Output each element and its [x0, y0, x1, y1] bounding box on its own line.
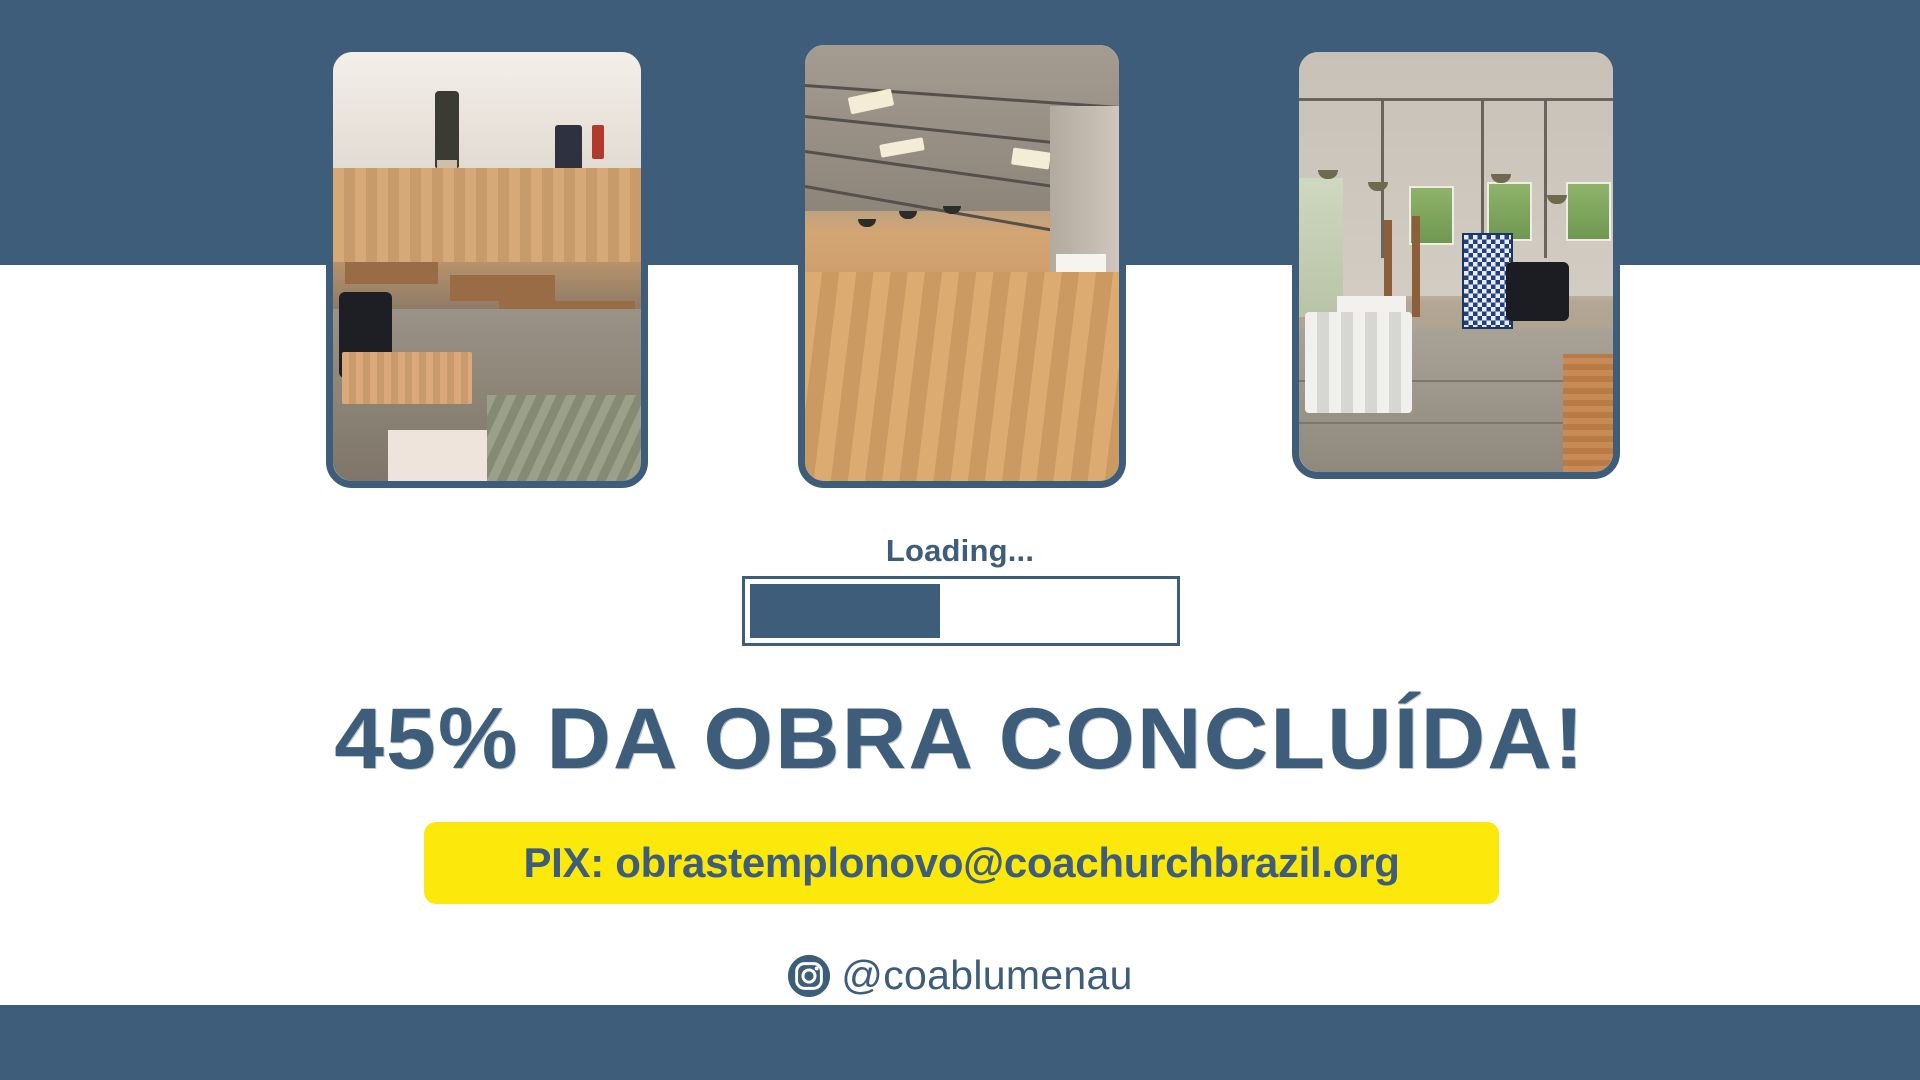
bottom-accent-band — [0, 1005, 1920, 1080]
photo-region-metal-stack — [487, 395, 641, 481]
photo-region-wood-board — [1563, 354, 1613, 472]
photo-region-wall — [1299, 52, 1613, 296]
photo-hall-with-furniture — [1292, 45, 1620, 479]
instagram-icon — [787, 954, 831, 998]
photo-region-joist — [345, 262, 437, 283]
instagram-handle: @coablumenau — [841, 952, 1132, 999]
photo-finished-wooden-floor — [798, 38, 1126, 488]
photo-region-wooden-floor — [805, 272, 1119, 481]
photo-region-post — [1412, 216, 1420, 317]
photo-region-wall — [1050, 106, 1119, 272]
photo-region-lamp — [899, 211, 917, 219]
photo-region-bench — [342, 352, 471, 403]
photo-region-covered-materials — [1506, 262, 1569, 321]
photo-region-extinguisher — [592, 125, 604, 159]
photo-gallery — [0, 0, 1920, 500]
photo-region-deck — [333, 168, 641, 262]
photo-region-pipe — [1544, 98, 1547, 258]
photo-region-panel — [388, 430, 487, 481]
page-title: 45% DA OBRA CONCLUÍDA! — [0, 690, 1920, 789]
photo-region-stacked-chairs — [1305, 312, 1412, 413]
pix-donation-banner[interactable]: PIX: obrastemplonovo@coachurchbrazil.org — [424, 822, 1499, 904]
photo-region-pipe — [1299, 98, 1613, 101]
photo-construction-subfloor — [326, 45, 648, 488]
social-handle-row[interactable]: @coablumenau — [0, 952, 1920, 999]
photo-region-chair — [555, 125, 583, 172]
progress-bar — [742, 576, 1180, 646]
photo-region-window — [1566, 182, 1611, 241]
photo-region-joist — [450, 275, 555, 301]
photo-region-worker — [435, 91, 460, 168]
loading-label: Loading... — [0, 533, 1920, 569]
photo-region-lamp — [858, 219, 876, 227]
pix-key-text: PIX: obrastemplonovo@coachurchbrazil.org — [523, 839, 1399, 887]
progress-bar-fill — [750, 584, 940, 638]
